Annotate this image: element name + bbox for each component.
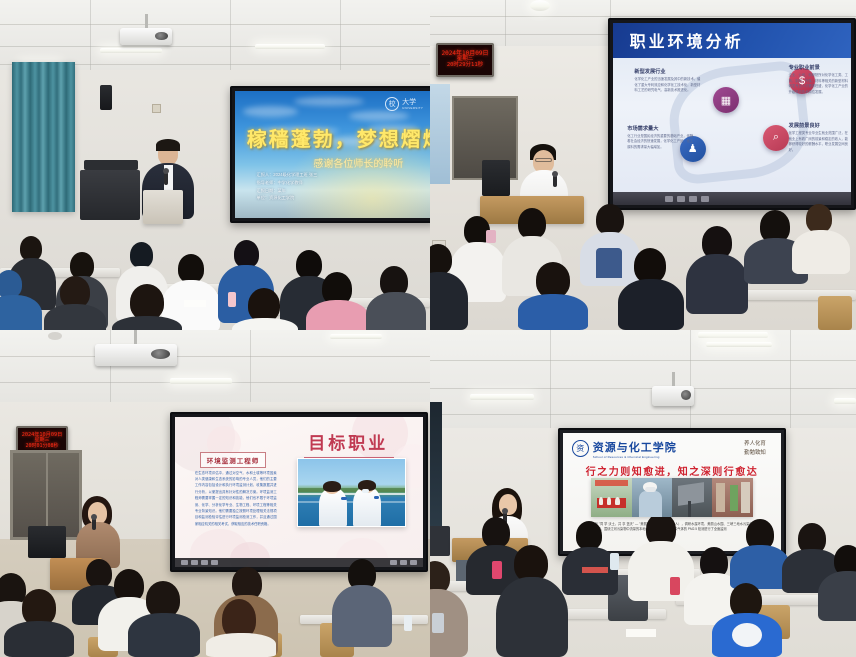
wall-speaker xyxy=(100,85,112,110)
college-name: 资源与化工学院 xyxy=(593,439,677,455)
led-time: 20时29分11秒 xyxy=(447,63,483,69)
building-icon: ▦ xyxy=(713,87,739,113)
ceiling-dome-camera xyxy=(48,332,62,340)
paper xyxy=(184,300,206,307)
collage-panel-bottom-right: 资 资源与化工学院 School of Resources & Chemical… xyxy=(430,330,856,657)
slide-photo-strip xyxy=(591,478,752,517)
slide-meta: 汇报人：2024级化学理工班 张三 指导老师：中学化学教师 汇报日期：某年 单位… xyxy=(257,171,318,202)
projection-screen: 校 大学 UNIVERSITY 稼穑蓬勃，梦想熠熠 感谢各位师长的聆听 汇报人：… xyxy=(230,86,430,223)
led-time: 20时01分08秒 xyxy=(25,444,58,449)
motto-line-1: 养人化育 xyxy=(744,440,766,449)
microphone xyxy=(553,175,557,187)
slide-body: ▦ $ ⌕ ♟ 新型发展行业 化学化工产业的迅速发展及其中的新技术，催化了重大专… xyxy=(613,58,851,193)
slide-meta-line: 单位：资源化工学院 xyxy=(257,194,318,202)
photo-indoor-scene xyxy=(712,478,752,517)
av-equipment xyxy=(84,160,138,170)
motto-line-2: 勤勉致知 xyxy=(744,449,766,458)
college-emblem-icon: 资 xyxy=(572,440,589,457)
audience xyxy=(0,537,430,657)
water-bottle xyxy=(486,230,496,243)
water-bottle xyxy=(228,292,236,307)
ceiling-projector xyxy=(95,344,177,366)
slide-body-text: 在生态环境评估中，通过对空气、水和土壤等环境因素对人类健康和生态系统的影响的专业… xyxy=(195,470,277,528)
slide-label-new-industry: 新型发展行业 化学化工产业的迅速发展及其中的新技术，催化了重大专利效应和化学化工… xyxy=(634,68,700,93)
photo-collage: 校 大学 UNIVERSITY 稼穑蓬勃，梦想熠熠 感谢各位师长的聆听 汇报人：… xyxy=(0,0,856,657)
collage-panel-top-right: 2024年10月09日 星期三 20时29分11秒 职业环境分析 ▦ $ ⌕ xyxy=(430,0,856,330)
university-name: 大学 xyxy=(402,99,423,107)
slide-job-tag: 环境监测工程师 xyxy=(200,452,267,468)
water-bottle xyxy=(670,577,680,595)
microphone xyxy=(92,518,96,530)
photo-equipment xyxy=(672,478,712,517)
slide-career-environment: 职业环境分析 ▦ $ ⌕ ♟ 新型发展行业 化学化工产业的迅速发展及其中的新技术… xyxy=(613,23,851,205)
window-curtain xyxy=(12,62,75,212)
university-name-en: UNIVERSITY xyxy=(402,106,423,110)
slide-title: 目标职业 xyxy=(308,429,388,454)
slide-university-logo: 校 大学 UNIVERSITY xyxy=(385,97,423,111)
water-bottle xyxy=(404,615,412,631)
ceiling-projector xyxy=(652,386,694,406)
slide-label-market-demand: 市场需求量大 化工行业是国民经济的重要的基础产业，伴随着社会经济的快速发展，化学… xyxy=(627,125,693,150)
water-bottle xyxy=(492,561,502,579)
collage-panel-top-left: 校 大学 UNIVERSITY 稼穑蓬勃，梦想熠熠 感谢各位师长的聆听 汇报人：… xyxy=(0,0,430,330)
side-board xyxy=(430,402,442,528)
slide-meta-line: 汇报人：2024级化学理工班 张三 xyxy=(257,171,318,179)
projection-screen: 职业环境分析 ▦ $ ⌕ ♟ 新型发展行业 化学化工产业的迅速发展及其中的新技术… xyxy=(608,18,856,210)
ceiling-light xyxy=(255,44,325,49)
slide-header: 职业环境分析 xyxy=(613,23,851,58)
ceiling xyxy=(0,0,430,70)
slide-meta-line: 汇报日期：某年 xyxy=(257,187,318,195)
led-clock-board: 2024年10月09日 星期三 20时29分11秒 xyxy=(436,43,494,77)
slide-subtitle: 感谢各位师长的聆听 xyxy=(313,155,403,170)
university-seal-icon: 校 xyxy=(385,97,399,111)
wall-outlet xyxy=(152,104,161,113)
ceiling xyxy=(0,330,430,402)
audience xyxy=(0,210,430,330)
hoodie-print xyxy=(732,623,762,647)
ceiling-light xyxy=(100,48,162,53)
ceiling-projector xyxy=(120,28,172,45)
red-card xyxy=(582,567,608,573)
slide-headline: 行之力则知愈进，知之深则行愈达 xyxy=(563,463,781,478)
search-icon: ⌕ xyxy=(763,125,789,151)
college-logo: 资 资源与化工学院 School of Resources & Chemical… xyxy=(572,439,677,459)
notebook xyxy=(626,629,656,637)
slide-title: 职业环境分析 xyxy=(630,28,744,52)
college-name-en: School of Resources & Chemical Engineeri… xyxy=(593,455,677,459)
microphone xyxy=(164,172,168,185)
ceiling-light xyxy=(330,334,382,339)
water-bottle xyxy=(432,613,444,633)
audience xyxy=(430,517,856,657)
slide-title: 稼穑蓬勃，梦想熠熠 xyxy=(247,123,423,152)
water-bottle xyxy=(610,553,619,570)
adjacent-screen-glimpse xyxy=(430,84,450,184)
ceiling-light xyxy=(170,378,232,384)
audience xyxy=(430,204,856,330)
photo-field-work xyxy=(632,478,672,517)
slide-label-good-outlook: 发展前景良好 化学工程类专业毕业生就业范围广泛，在就业上有着广阔的前景和稳定的收… xyxy=(789,122,849,153)
slide-photo-water-treatment xyxy=(297,458,406,527)
slide-meta-line: 指导老师：中学化学教师 xyxy=(257,179,318,187)
collage-panel-bottom-left: 2024年10月09日 星期三 20时01分08秒 目标职业 环境监测工程师 在… xyxy=(0,330,430,657)
slide-label-career-prospect: 专业职业前景 企业、公司、科研院所对化学化工类、工商、制药、环保、材料等相关的新… xyxy=(789,64,849,95)
photo-event-banner xyxy=(591,478,631,517)
monitor xyxy=(482,160,510,196)
college-motto: 养人化育 勤勉致知 xyxy=(744,440,766,458)
